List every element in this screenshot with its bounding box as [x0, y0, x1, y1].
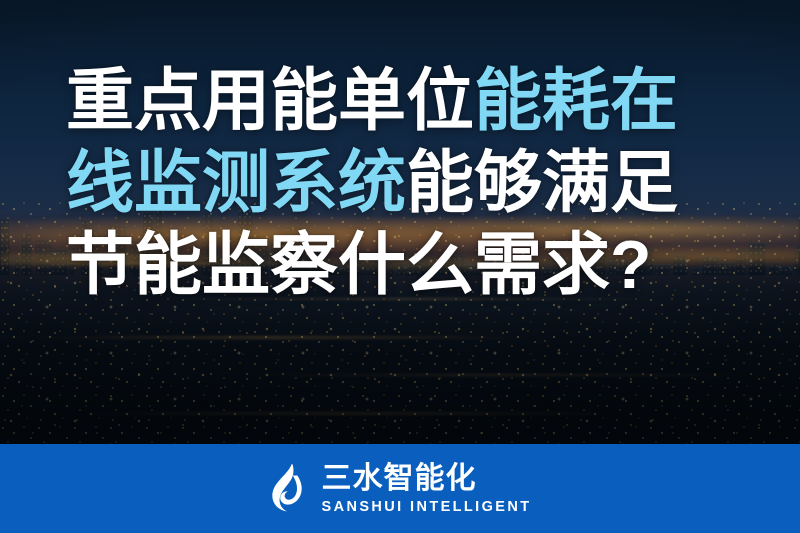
headline-segment-2-2: 能够满足: [406, 145, 678, 221]
skyline-tower: [35, 239, 52, 276]
headline-segment-1-1: 重点用能单位: [66, 63, 474, 139]
brand-logo: 三水智能化 SANSHUI INTELLIGENT: [0, 444, 800, 533]
skyline-tower: [14, 257, 20, 276]
poster-canvas: 重点用能单位能耗在线监测系统能够满足节能监察什么需求? 三水智能化 SANSHU…: [0, 0, 800, 533]
skyline-tower: [778, 266, 793, 276]
headline-segment-3-1: 节能监察什么需求?: [66, 227, 652, 303]
skyline-tower: [794, 246, 800, 276]
flame-droplet-icon: [269, 463, 309, 515]
headline-block: 重点用能单位能耗在线监测系统能够满足节能监察什么需求?: [66, 60, 766, 306]
brand-name-en: SANSHUI INTELLIGENT: [322, 498, 532, 516]
headline-segment-2-1: 线监测系统: [66, 145, 406, 221]
headline-segment-1-2: 能耗在: [474, 63, 678, 139]
skyline-tower: [21, 233, 32, 276]
headline-line-1: 重点用能单位能耗在: [66, 60, 766, 142]
headline-line-2: 线监测系统能够满足: [66, 142, 766, 224]
headline-line-3: 节能监察什么需求?: [66, 224, 766, 306]
brand-name-cn: 三水智能化: [322, 462, 477, 496]
skyline-tower: [0, 218, 10, 276]
brand-logo-text: 三水智能化 SANSHUI INTELLIGENT: [322, 462, 532, 516]
footer-brand-bar: 三水智能化 SANSHUI INTELLIGENT: [0, 444, 800, 533]
skyline-tower: [769, 262, 780, 276]
